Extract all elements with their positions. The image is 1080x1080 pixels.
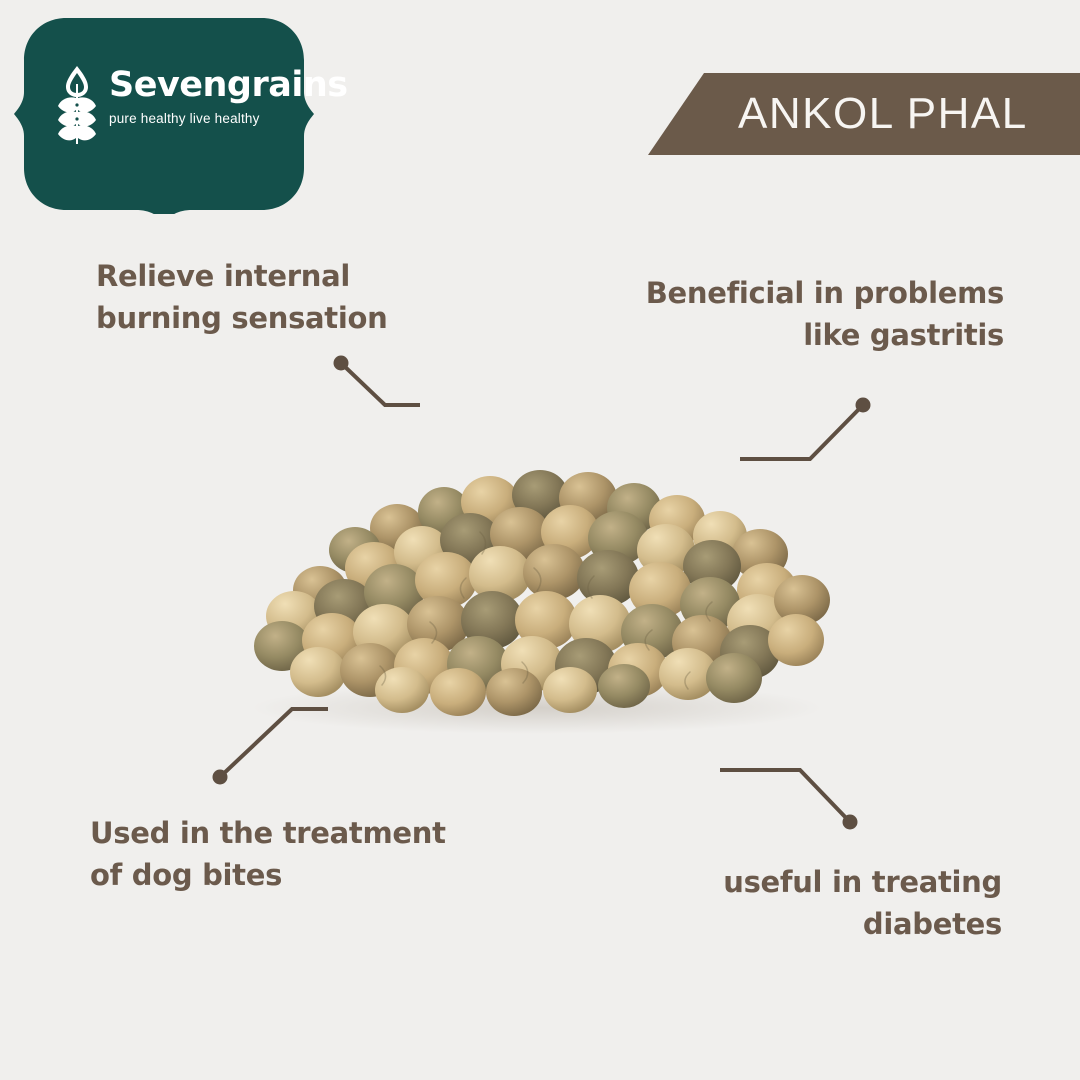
page-title: ANKOL PHAL: [738, 89, 1028, 139]
brand-name: Sevengrains: [109, 68, 348, 103]
infographic-poster: Sevengrains pure healthy live healthy AN…: [0, 0, 1080, 1080]
callout-line: Beneficial in problems: [646, 272, 1004, 314]
callout-line: useful in treating: [723, 861, 1002, 903]
wheat-stalk-icon: [55, 64, 99, 146]
connector-dot-gastritis: [856, 398, 871, 413]
product-image-seed-pile: [222, 440, 842, 740]
callout-relieve-burning: Relieve internal burning sensation: [96, 255, 387, 339]
brand-tagline: pure healthy live healthy: [109, 112, 348, 126]
callout-line: burning sensation: [96, 297, 387, 339]
connector-dot-relieve-burning: [334, 356, 349, 371]
callout-line: Used in the treatment: [90, 812, 446, 854]
connector-dot-dog-bites: [213, 770, 228, 785]
callout-line: Relieve internal: [96, 255, 387, 297]
brand-wordmark: Sevengrains pure healthy live healthy: [109, 62, 348, 126]
connector-line-diabetes: [720, 770, 850, 822]
brand-lockup: Sevengrains pure healthy live healthy: [55, 62, 275, 157]
callout-line: of dog bites: [90, 854, 446, 896]
callout-line: diabetes: [723, 903, 1002, 945]
connector-line-relieve-burning: [341, 363, 420, 405]
callout-diabetes: useful in treating diabetes: [723, 861, 1002, 945]
callout-gastritis: Beneficial in problems like gastritis: [646, 272, 1004, 356]
callout-line: like gastritis: [646, 314, 1004, 356]
title-banner: ANKOL PHAL: [648, 73, 1080, 155]
callout-dog-bites: Used in the treatment of dog bites: [90, 812, 446, 896]
connector-dot-diabetes: [843, 815, 858, 830]
